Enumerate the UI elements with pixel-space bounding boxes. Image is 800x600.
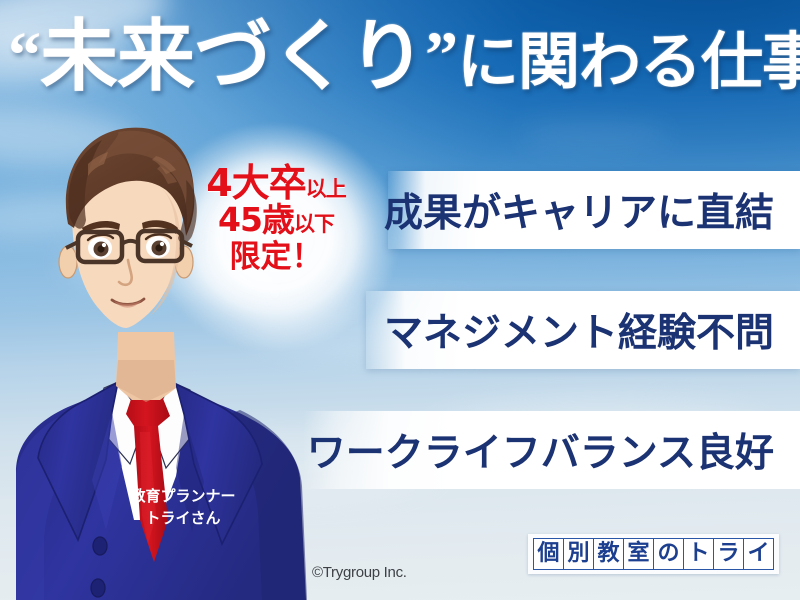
logo-cell: 室 xyxy=(624,539,654,569)
character-caption: 教育プランナー トライさん xyxy=(118,486,248,530)
trygroup-logo: 個別教室のトライ xyxy=(528,534,779,574)
feature-bar-career: 成果がキャリアに直結 xyxy=(388,171,800,249)
headline-tail: に関わる仕事 xyxy=(457,29,800,97)
feature-bar-career-label: 成果がキャリアに直結 xyxy=(384,182,774,238)
recruitment-poster: “未来づくり”に関わる仕事 xyxy=(0,0,800,600)
headline-main: 未来づくり xyxy=(40,13,425,100)
feature-bar-management-label: マネジメント経験不問 xyxy=(384,302,774,358)
character-name: トライさん xyxy=(118,508,248,530)
logo-cell: イ xyxy=(744,539,773,569)
headline-open-quote: “ xyxy=(8,19,40,92)
feature-bar-worklife-label: ワークライフバランス良好 xyxy=(307,422,774,478)
logo-cell: の xyxy=(654,539,684,569)
feature-bar-management: マネジメント経験不問 xyxy=(366,291,800,369)
headline-close-quote: ” xyxy=(425,19,457,92)
headline: “未来づくり”に関わる仕事 xyxy=(8,18,800,96)
condition-limited: 限定！ xyxy=(196,241,356,274)
jacket-button xyxy=(91,579,105,597)
logo-cell: 別 xyxy=(564,539,594,569)
logo-cell: 個 xyxy=(534,539,564,569)
jacket-button xyxy=(93,537,107,555)
eligibility-conditions: 4大卒以上 45歳以下 限定！ xyxy=(196,163,356,274)
copyright-notice: ©Trygroup Inc. xyxy=(312,564,407,581)
logo-cell: ト xyxy=(684,539,714,569)
feature-bar-worklife: ワークライフバランス良好 xyxy=(304,411,800,489)
character-role: 教育プランナー xyxy=(118,486,248,508)
condition-age-suffix: 以下 xyxy=(294,212,334,236)
condition-degree: 4大卒 xyxy=(206,161,305,205)
logo-cell: 教 xyxy=(594,539,624,569)
condition-degree-suffix: 以上 xyxy=(306,177,346,201)
logo-cell: ラ xyxy=(714,539,744,569)
character-ear xyxy=(59,246,77,278)
condition-age: 45歳 xyxy=(218,200,294,239)
